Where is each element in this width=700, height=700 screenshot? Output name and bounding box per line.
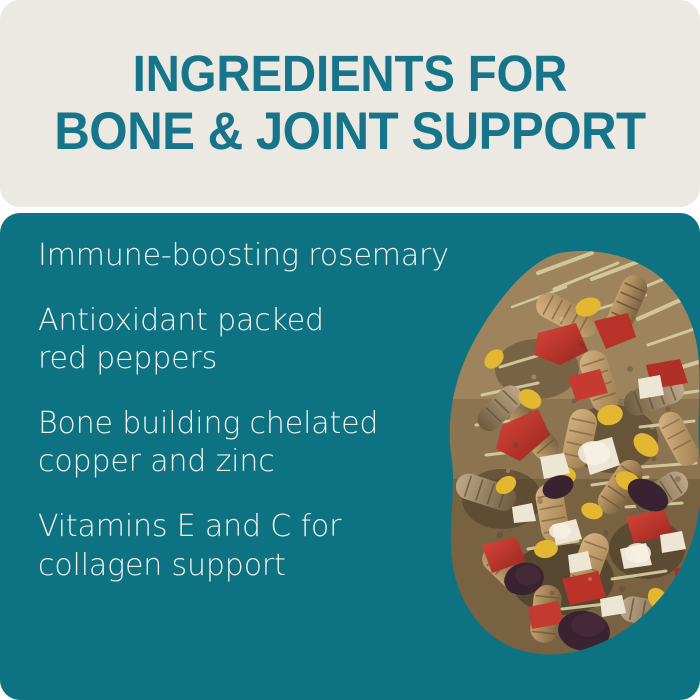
- benefit-line-2: copper and zinc: [38, 443, 458, 481]
- list-item: Bone building chelated copper and zinc: [38, 405, 458, 481]
- body-panel: Immune-boosting rosemary Antioxidant pac…: [0, 213, 700, 700]
- benefit-line-1: Antioxidant packed: [38, 302, 458, 340]
- title-line-2: BONE & JOINT SUPPORT: [54, 102, 645, 161]
- benefit-line-2: collagen support: [38, 547, 458, 585]
- list-item: Immune-boosting rosemary: [38, 237, 458, 275]
- benefit-line-2: red peppers: [38, 340, 458, 378]
- benefit-line-1: Bone building chelated: [38, 405, 458, 443]
- list-item: Vitamins E and C for collagen support: [38, 508, 458, 584]
- benefit-line-1: Vitamins E and C for: [38, 508, 458, 546]
- food-mix-image: [442, 249, 700, 661]
- list-item: Antioxidant packed red peppers: [38, 302, 458, 378]
- promo-card: INGREDIENTS FOR BONE & JOINT SUPPORT: [0, 0, 700, 700]
- header-panel: INGREDIENTS FOR BONE & JOINT SUPPORT: [0, 0, 700, 207]
- page-title: INGREDIENTS FOR BONE & JOINT SUPPORT: [41, 45, 658, 161]
- benefit-line-1: Immune-boosting rosemary: [38, 237, 458, 275]
- title-line-1: INGREDIENTS FOR: [54, 45, 645, 102]
- benefits-list: Immune-boosting rosemary Antioxidant pac…: [38, 237, 458, 585]
